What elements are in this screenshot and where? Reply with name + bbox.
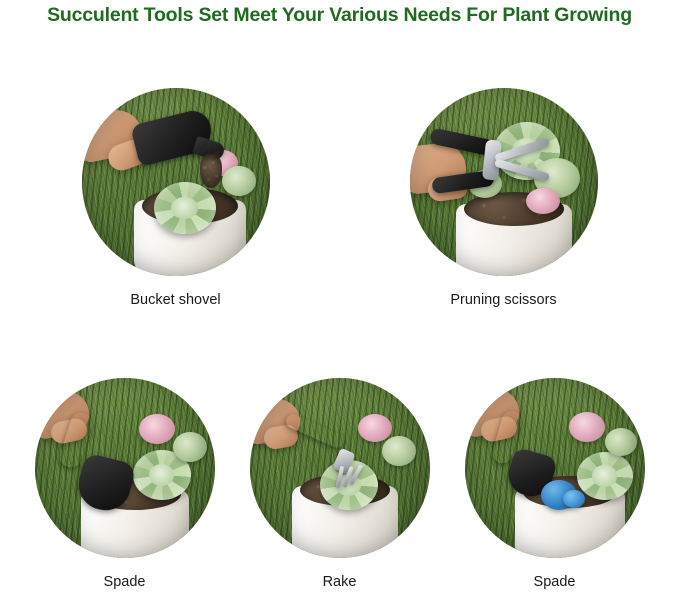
- gallery-row-bottom: Spade Rake: [0, 378, 679, 590]
- succulent-pink: [358, 414, 392, 442]
- succulent-green: [382, 436, 416, 466]
- page-title: Succulent Tools Set Meet Your Various Ne…: [0, 4, 679, 27]
- succulent-pink: [139, 414, 175, 444]
- caption-spade-right: Spade: [534, 574, 576, 590]
- gallery-item-spade-left: Spade: [35, 378, 215, 590]
- blue-decorative-stone: [563, 490, 585, 508]
- gallery-item-pruning-scissors: Pruning scissors: [410, 88, 598, 308]
- succulent-green: [605, 428, 637, 456]
- gallery-item-bucket-shovel: Bucket shovel: [82, 88, 270, 308]
- gallery-item-rake: Rake: [250, 378, 430, 590]
- photo-pruning-scissors: [410, 88, 598, 276]
- succulent-green: [222, 166, 256, 196]
- photo-rake: [250, 378, 430, 558]
- succulent-pink: [569, 412, 605, 442]
- caption-rake: Rake: [323, 574, 357, 590]
- succulent-rosette: [154, 182, 216, 234]
- pouring-soil: [200, 154, 222, 188]
- caption-pruning-scissors: Pruning scissors: [450, 292, 556, 308]
- photo-bucket-shovel: [82, 88, 270, 276]
- caption-bucket-shovel: Bucket shovel: [130, 292, 220, 308]
- succulent-green: [173, 432, 207, 462]
- photo-spade-right: [465, 378, 645, 558]
- succulent-rosette: [577, 452, 633, 500]
- gallery-row-top: Bucket shovel P: [0, 88, 679, 308]
- succulent-pink: [526, 188, 560, 214]
- gallery-item-spade-right: Spade: [465, 378, 645, 590]
- product-infographic: Succulent Tools Set Meet Your Various Ne…: [0, 0, 679, 612]
- caption-spade-left: Spade: [104, 574, 146, 590]
- photo-spade-left: [35, 378, 215, 558]
